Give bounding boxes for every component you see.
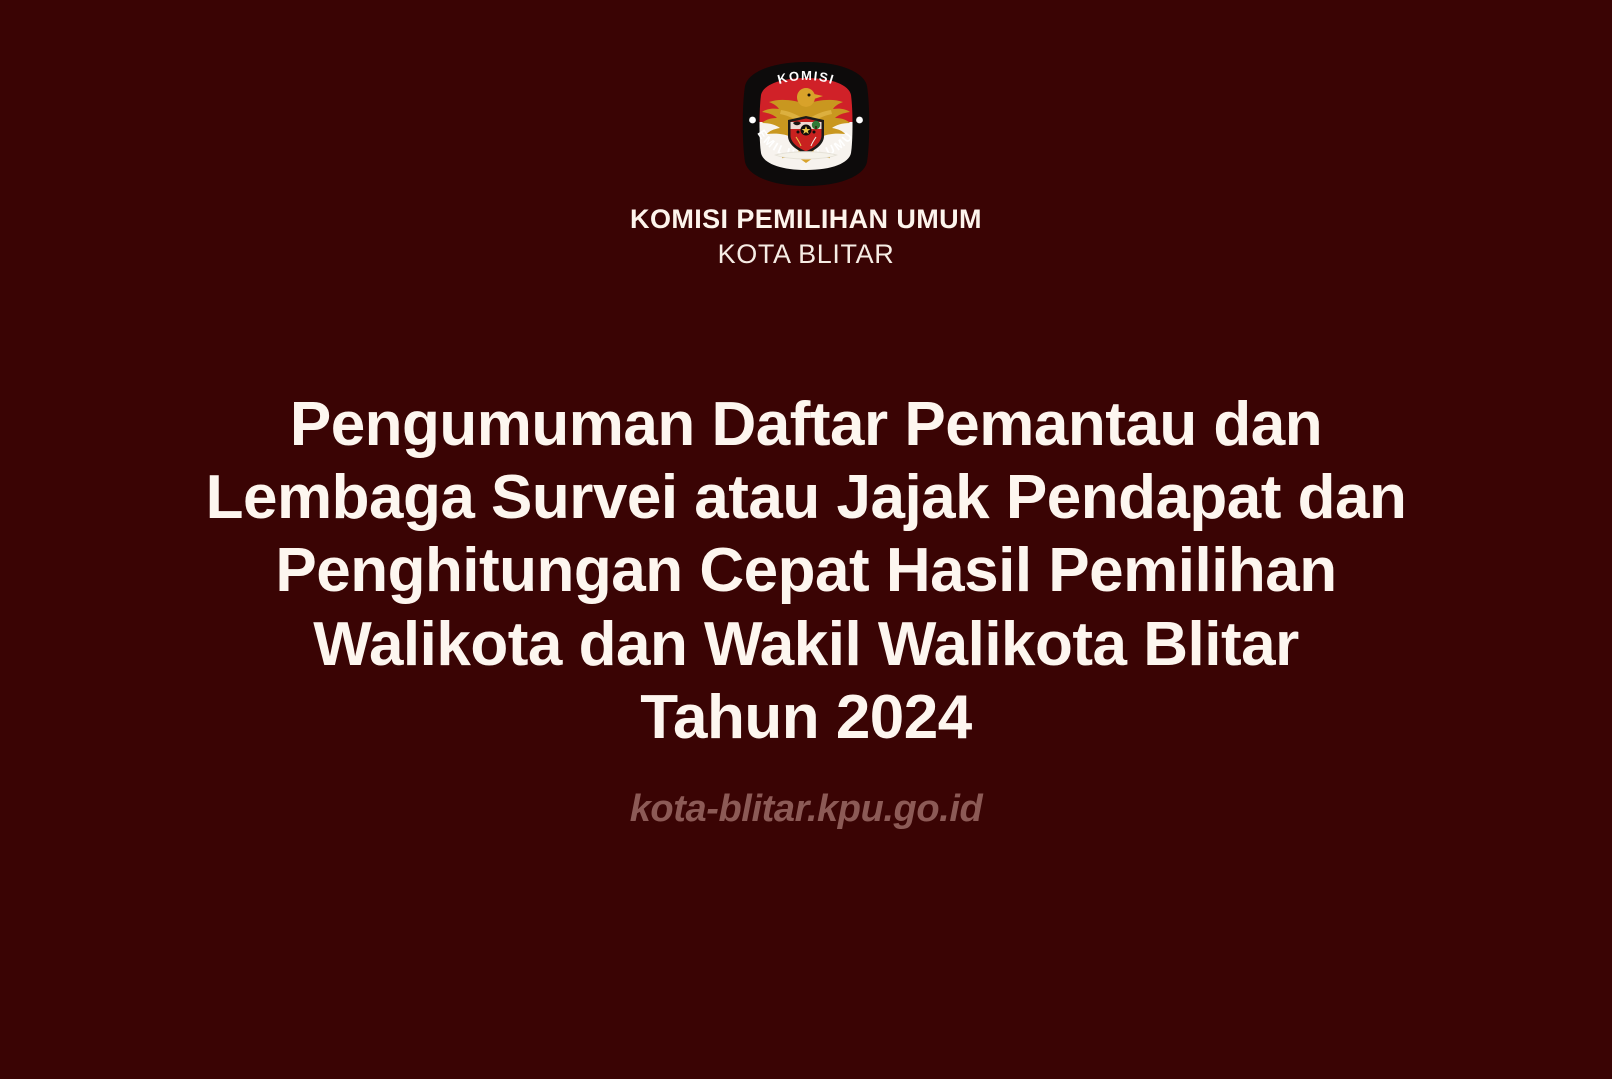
announcement-headline: Pengumuman Daftar Pemantau dan Lembaga S… — [106, 388, 1506, 754]
headline-line: Tahun 2024 — [126, 681, 1486, 754]
headline-line: Walikota dan Wakil Walikota Blitar — [126, 608, 1486, 681]
headline-line: Penghitungan Cepat Hasil Pemilihan — [126, 534, 1486, 607]
announcement-poster: KOMISI PEMILIHAN UMUM — [0, 0, 1612, 1079]
brand-subtitle-city: KOTA BLITAR — [718, 239, 895, 270]
headline-line: Lembaga Survei atau Jajak Pendapat dan — [126, 461, 1486, 534]
headline-line: Pengumuman Daftar Pemantau dan — [126, 388, 1486, 461]
brand-title: KOMISI PEMILIHAN UMUM — [630, 204, 982, 235]
kpu-garuda-emblem-icon: KOMISI PEMILIHAN UMUM — [736, 60, 876, 188]
site-url: kota-blitar.kpu.go.id — [630, 788, 983, 831]
brand-header: KOMISI PEMILIHAN UMUM — [630, 60, 982, 270]
